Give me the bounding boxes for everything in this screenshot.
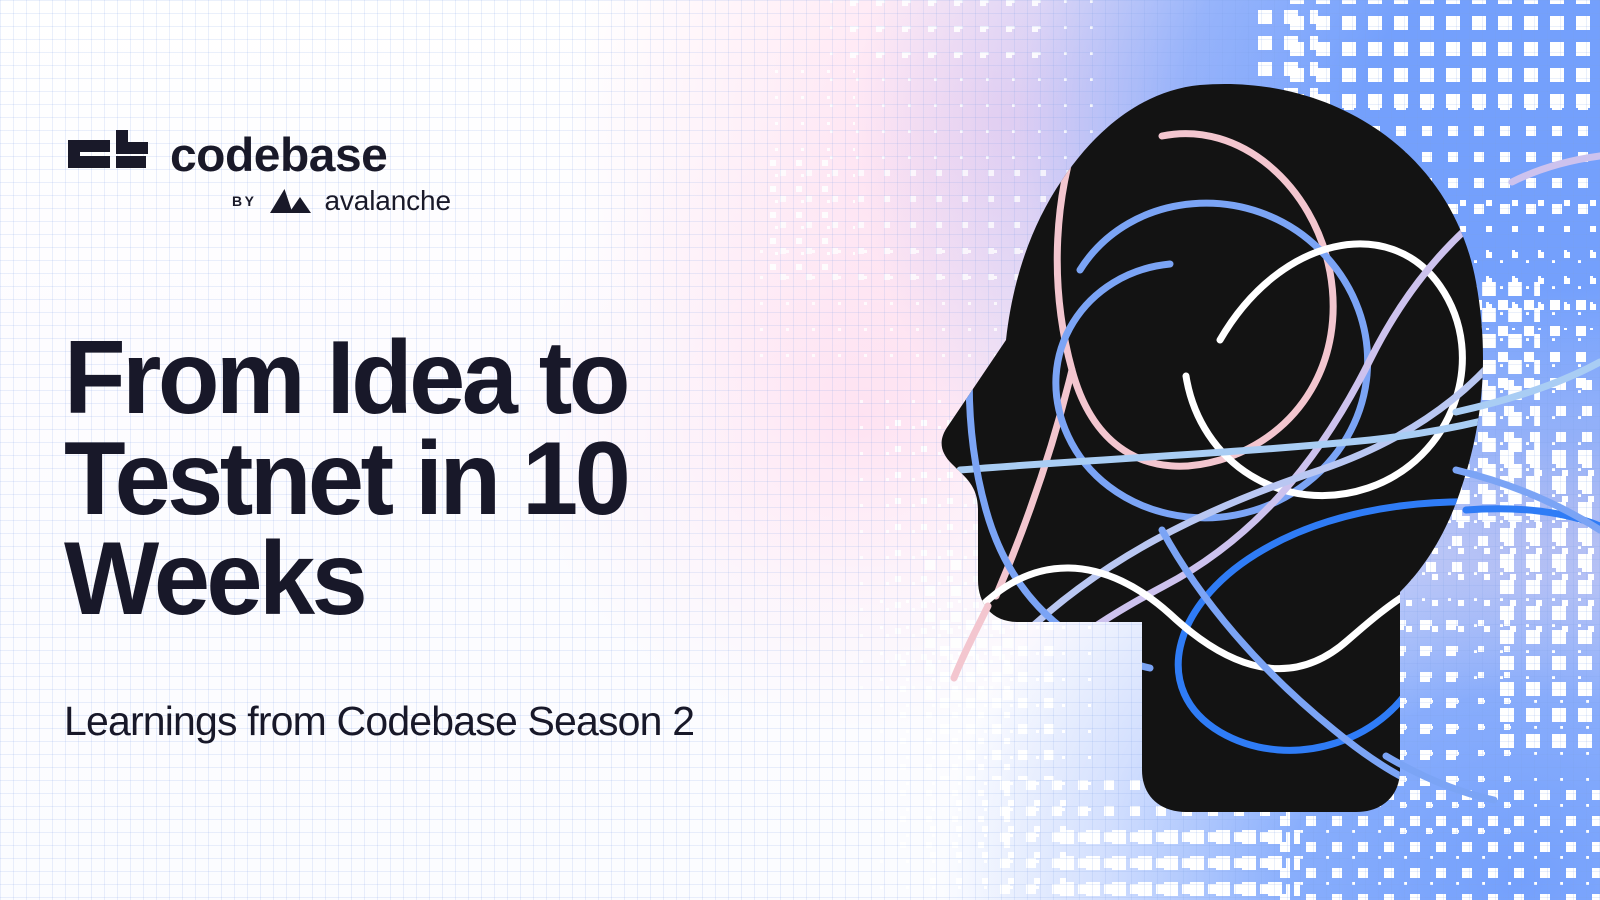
thread-blue-mid-tail-right — [1456, 470, 1600, 530]
hero-text-column: codebase BY avalanche From Idea to Testn… — [62, 0, 882, 900]
partner-name: avalanche — [325, 187, 451, 215]
page-subtitle: Learnings from Codebase Season 2 — [64, 699, 884, 744]
head-profile-silhouette — [942, 84, 1483, 812]
thread-pink-tail-left — [954, 606, 988, 678]
brand-lockup: codebase BY avalanche — [68, 130, 508, 215]
brand-row: codebase — [68, 130, 508, 178]
brand-name: codebase — [170, 131, 387, 178]
by-label: BY — [232, 193, 257, 209]
page-title: From Idea to Testnet in 10 Weeks — [64, 328, 840, 631]
avalanche-triangles-icon — [268, 187, 314, 215]
hero-banner: codebase BY avalanche From Idea to Testn… — [0, 0, 1600, 900]
codebase-cb-blocks-icon — [68, 130, 148, 178]
tangled-thoughts-head-illustration — [900, 40, 1600, 900]
by-partner-row: BY avalanche — [68, 187, 508, 215]
thread-blue-neck-tail — [1386, 756, 1494, 800]
thread-lilac-tail-top — [1512, 156, 1600, 182]
